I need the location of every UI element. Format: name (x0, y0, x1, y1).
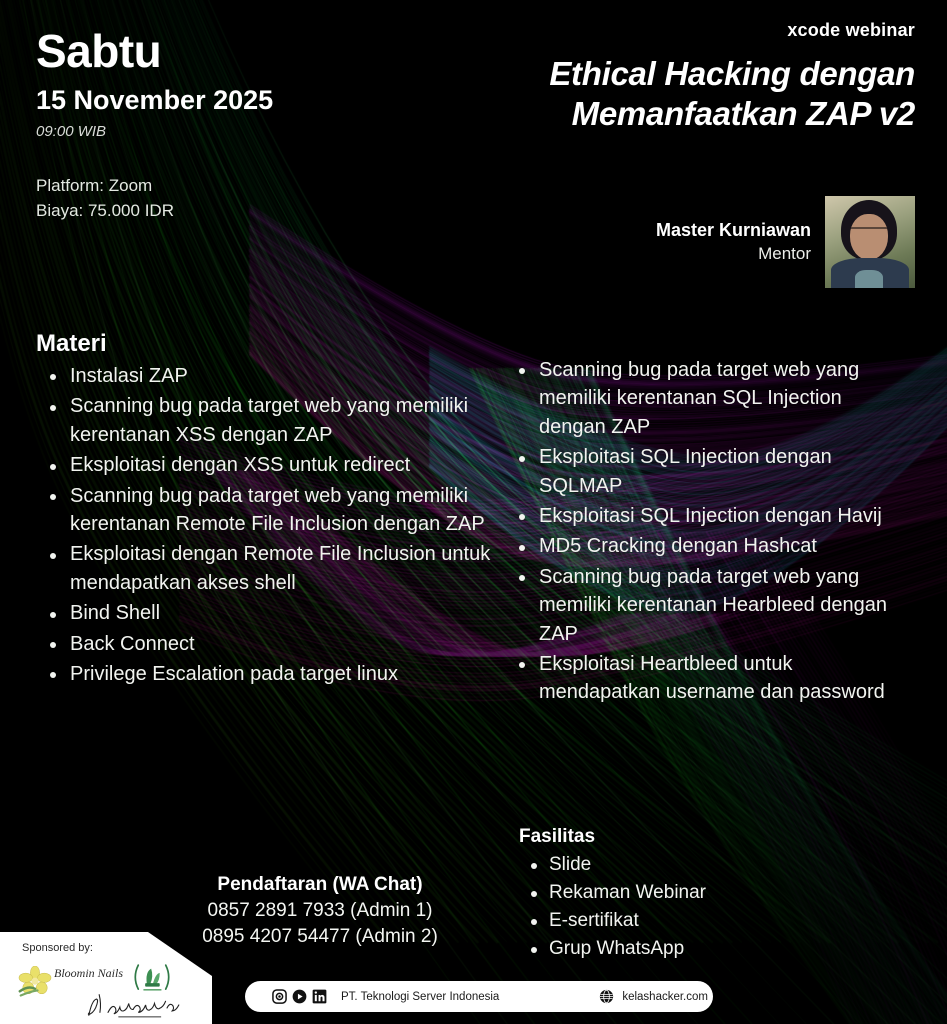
registration-admin-1[interactable]: 0857 2891 7933 (Admin 1) (160, 898, 480, 924)
list-item: Grup WhatsApp (549, 935, 879, 963)
registration-admin-2[interactable]: 0895 4207 54477 (Admin 2) (160, 924, 480, 950)
fasilitas-heading: Fasilitas (519, 826, 879, 848)
avatar-shirt (855, 270, 883, 288)
globe-icon (599, 989, 614, 1004)
event-day: Sabtu (36, 28, 273, 74)
list-item: Scanning bug pada target web yang memili… (539, 356, 905, 441)
avatar (825, 196, 915, 288)
materi-left-list: Instalasi ZAPScanning bug pada target we… (36, 362, 491, 688)
fasilitas-block: Fasilitas SlideRekaman WebinarE-sertifik… (519, 826, 879, 963)
list-item: Eksploitasi SQL Injection dengan Havij (539, 502, 905, 530)
footer-website-group[interactable]: kelashacker.com (599, 989, 708, 1004)
footer-social-group: PT. Teknologi Server Indonesia (272, 989, 499, 1004)
list-item: Slide (549, 851, 879, 879)
list-item: Eksploitasi Heartbleed untuk mendapatkan… (539, 650, 905, 707)
event-time: 09:00 WIB (36, 124, 273, 139)
sponsor-logos: Bloomin Nails (14, 958, 204, 1020)
list-item: Back Connect (70, 630, 491, 658)
flower-icon (18, 966, 52, 998)
list-item: Bind Shell (70, 599, 491, 627)
page-title: Ethical Hacking dengan Memanfaatkan ZAP … (275, 54, 915, 135)
event-price: Biaya: 75.000 IDR (36, 199, 273, 224)
sponsor-label: Sponsored by: (22, 942, 93, 954)
title-line-2: Memanfaatkan ZAP v2 (275, 94, 915, 134)
event-platform: Platform: Zoom (36, 174, 273, 199)
mentor-block: Master Kurniawan Mentor (656, 196, 915, 288)
materi-right-column: Scanning bug pada target web yang memili… (505, 352, 905, 709)
sponsor-logo-1-name: Bloomin Nails (54, 967, 123, 980)
list-item: Scanning bug pada target web yang memili… (70, 392, 491, 449)
mentor-name: Master Kurniawan (656, 219, 811, 242)
event-meta: Platform: Zoom Biaya: 75.000 IDR (36, 174, 273, 223)
list-item: MD5 Cracking dengan Hashcat (539, 532, 905, 560)
event-date: 15 November 2025 (36, 87, 273, 114)
title-block: xcode webinar Ethical Hacking dengan Mem… (275, 20, 915, 135)
avatar-face (850, 214, 888, 260)
list-item: E-sertifikat (549, 907, 879, 935)
webinar-poster: Sabtu 15 November 2025 09:00 WIB Platfor… (0, 0, 947, 1024)
footer-company: PT. Teknologi Server Indonesia (341, 991, 499, 1003)
mentor-role: Mentor (656, 243, 811, 265)
list-item: Eksploitasi dengan XSS untuk redirect (70, 451, 491, 479)
brand-label: xcode webinar (275, 20, 915, 41)
list-item: Scanning bug pada target web yang memili… (70, 482, 491, 539)
script-signature-icon (80, 990, 198, 1020)
footer-bar: PT. Teknologi Server Indonesia kelashack… (245, 981, 713, 1012)
list-item: Privilege Escalation pada target linux (70, 660, 491, 688)
registration-block: Pendaftaran (WA Chat) 0857 2891 7933 (Ad… (160, 872, 480, 950)
materi-heading: Materi (36, 330, 491, 358)
event-schedule-block: Sabtu 15 November 2025 09:00 WIB Platfor… (36, 28, 273, 223)
linkedin-icon[interactable] (312, 989, 327, 1004)
list-item: Eksploitasi dengan Remote File Inclusion… (70, 540, 491, 597)
fasilitas-list: SlideRekaman WebinarE-sertifikatGrup Wha… (519, 851, 879, 963)
instagram-icon[interactable] (272, 989, 287, 1004)
list-item: Instalasi ZAP (70, 362, 491, 390)
materi-left-column: Materi Instalasi ZAPScanning bug pada ta… (36, 330, 491, 690)
list-item: Eksploitasi SQL Injection dengan SQLMAP (539, 443, 905, 500)
youtube-icon[interactable] (292, 989, 307, 1004)
registration-heading: Pendaftaran (WA Chat) (160, 872, 480, 898)
list-item: Rekaman Webinar (549, 879, 879, 907)
materi-right-list: Scanning bug pada target web yang memili… (505, 356, 905, 707)
footer-website[interactable]: kelashacker.com (622, 991, 708, 1003)
list-item: Scanning bug pada target web yang memili… (539, 563, 905, 648)
mentor-text: Master Kurniawan Mentor (656, 219, 811, 266)
avatar-glasses (851, 227, 887, 237)
title-line-1: Ethical Hacking dengan (275, 54, 915, 94)
